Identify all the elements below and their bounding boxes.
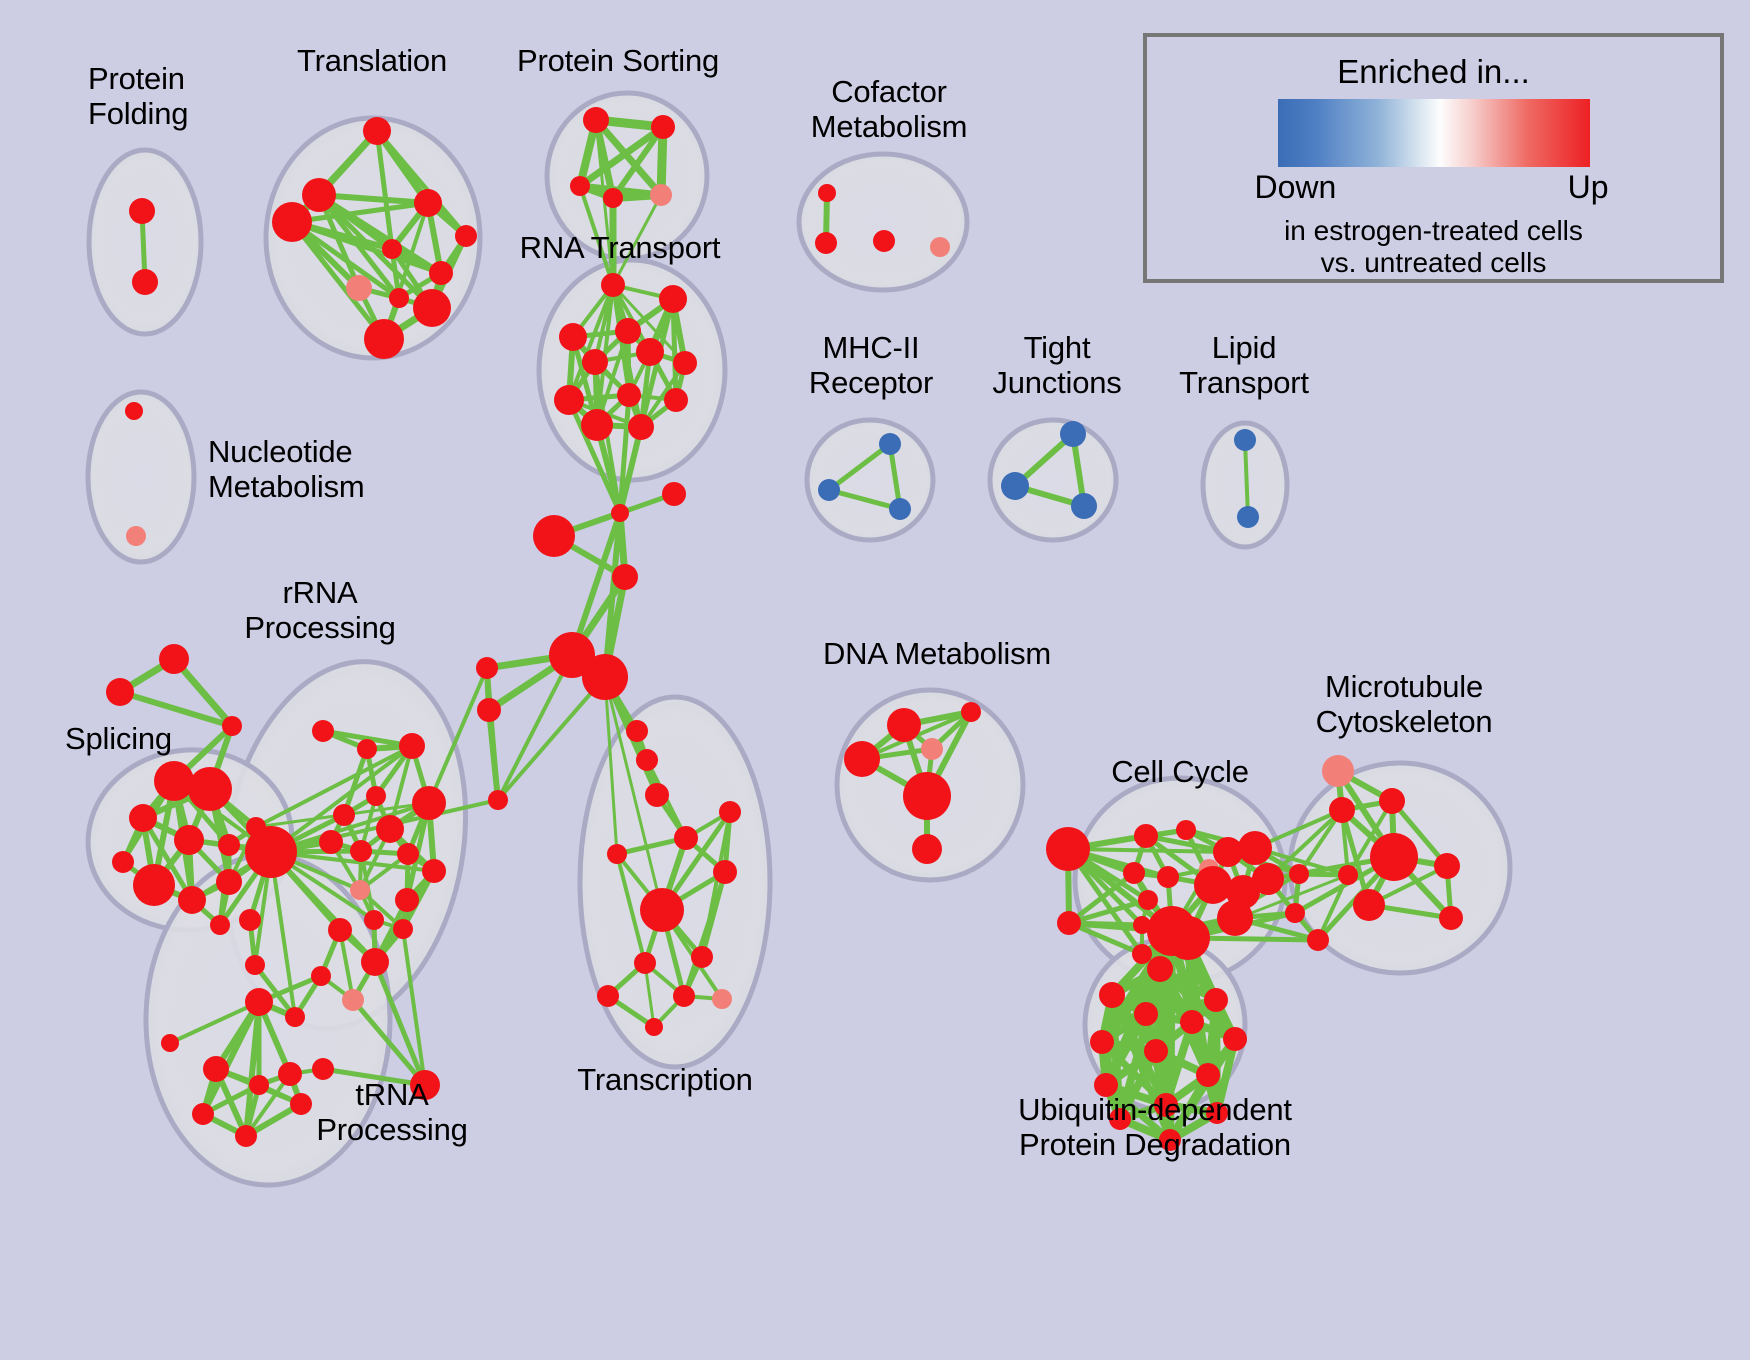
network-node-t3[interactable] [414,189,442,217]
network-node-t6[interactable] [382,239,402,259]
network-node-nm2[interactable] [126,526,146,546]
legend-panel: Enriched in... Down Up in estrogen-treat… [1143,33,1724,283]
network-node-dm2[interactable] [961,702,981,722]
network-node-mt3[interactable] [1329,797,1355,823]
network-node-rr4[interactable] [366,786,386,806]
legend-down-label: Down [1255,169,1337,206]
network-node-tp1[interactable] [245,988,273,1016]
network-node-cc8[interactable] [1157,866,1179,888]
network-node-t4[interactable] [272,202,312,242]
network-node-rt3[interactable] [615,318,641,344]
network-node-rr25[interactable] [312,1058,334,1080]
network-node-rr18[interactable] [361,948,389,976]
cluster-label-tight-junctions: Tight Junctions [992,331,1121,400]
network-node-sp1[interactable] [154,761,194,801]
network-node-sp0[interactable] [159,644,189,674]
network-node-ub4[interactable] [1134,1002,1158,1026]
network-node-t8[interactable] [346,275,372,301]
network-node-cc11[interactable] [1138,890,1158,910]
network-node-sp7[interactable] [133,864,175,906]
network-node-cm2[interactable] [815,232,837,254]
cluster-label-transcription: Transcription [577,1063,752,1098]
network-node-sp10[interactable] [210,915,230,935]
network-node-rr23[interactable] [285,1007,305,1027]
network-node-rr20[interactable] [342,989,364,1011]
network-node-rr15[interactable] [364,910,384,930]
network-node-rr21[interactable] [239,909,261,931]
network-node-mt1[interactable] [1322,755,1354,787]
legend-title: Enriched in... [1147,53,1720,91]
network-node-cc18[interactable] [1132,944,1152,964]
network-node-c1[interactable] [611,504,629,522]
network-node-sp11[interactable] [112,851,134,873]
network-node-cm4[interactable] [930,237,950,257]
network-node-rt5[interactable] [582,349,608,375]
network-node-sp2[interactable] [188,767,232,811]
cluster-label-rna-transport: RNA Transport [520,231,721,266]
legend-color-bar [1278,99,1590,167]
network-node-cc3[interactable] [1134,824,1158,848]
network-node-cm3[interactable] [873,230,895,252]
network-node-c6[interactable] [582,654,628,700]
network-node-tr1[interactable] [674,826,698,850]
network-node-c7[interactable] [476,657,498,679]
network-node-tp5[interactable] [192,1103,214,1125]
network-node-t9[interactable] [389,288,409,308]
network-node-sp4[interactable] [174,825,204,855]
network-node-tr4[interactable] [607,844,627,864]
network-node-ub10[interactable] [1196,1063,1220,1087]
cluster-label-nucleotide-metabolism: Nucleotide Metabolism [208,435,365,504]
network-node-rr13[interactable] [350,880,370,900]
network-node-rr2[interactable] [357,739,377,759]
network-node-pf1[interactable] [129,198,155,224]
network-node-rt10[interactable] [664,388,688,412]
cluster-label-ubiquitin-protein-degradation: Ubiquitin-dependent Protein Degradation [1018,1093,1292,1162]
network-node-c3[interactable] [533,515,575,557]
cluster-label-lipid-transport: Lipid Transport [1179,331,1309,400]
network-node-tr5[interactable] [713,860,737,884]
network-node-cc7[interactable] [1123,862,1145,884]
network-node-cc19[interactable] [1289,864,1309,884]
network-node-t1[interactable] [363,117,391,145]
network-node-c12[interactable] [645,783,669,807]
network-node-dm4[interactable] [921,738,943,760]
cluster-hull-rna-transport [539,260,725,480]
network-node-rt9[interactable] [617,383,641,407]
network-node-cm1[interactable] [818,184,836,202]
network-node-cc1[interactable] [1046,827,1090,871]
network-node-rt8[interactable] [554,385,584,415]
network-node-tr3[interactable] [640,888,684,932]
network-node-mt7[interactable] [1439,906,1463,930]
network-node-sp9[interactable] [216,869,242,895]
enrichment-map-canvas: Protein FoldingTranslationProtein Sortin… [0,0,1750,1360]
cluster-hull-transcription [580,697,770,1067]
network-node-cc6[interactable] [1238,831,1272,865]
network-node-mt6[interactable] [1434,853,1460,879]
network-node-dm6[interactable] [912,834,942,864]
network-node-mh1[interactable] [879,433,901,455]
network-node-ps1[interactable] [583,107,609,133]
network-node-sp3[interactable] [129,804,157,832]
network-node-cc17[interactable] [1166,916,1210,960]
network-node-tp2[interactable] [161,1034,179,1052]
network-node-tr11[interactable] [645,1018,663,1036]
network-node-rt6[interactable] [636,338,664,366]
legend-endpoint-labels: Down Up [1249,169,1619,213]
network-node-rt1[interactable] [601,273,625,297]
network-node-rr17[interactable] [328,918,352,942]
legend-up-label: Up [1568,169,1609,206]
network-node-rr3[interactable] [399,733,425,759]
network-node-tr2[interactable] [719,801,741,823]
network-node-mh2[interactable] [818,479,840,501]
network-node-rr11[interactable] [422,859,446,883]
cluster-label-trna-processing: tRNA Processing [316,1078,467,1147]
network-node-tp6[interactable] [235,1125,257,1147]
network-node-rr6[interactable] [412,786,446,820]
cluster-label-rrna-processing: rRNA Processing [244,576,395,645]
network-node-rr8[interactable] [319,830,343,854]
network-node-rt7[interactable] [673,351,697,375]
network-node-t5[interactable] [455,225,477,247]
network-node-ub1[interactable] [1147,956,1173,982]
network-node-ps5[interactable] [650,184,672,206]
network-node-t10[interactable] [413,289,451,327]
network-node-sp5[interactable] [218,834,240,856]
network-node-t2[interactable] [302,178,336,212]
network-node-rr9[interactable] [350,840,372,862]
network-node-tr8[interactable] [597,985,619,1007]
network-node-rr12[interactable] [245,826,297,878]
network-node-cc21[interactable] [1307,929,1329,951]
network-node-rr16[interactable] [393,919,413,939]
network-node-sp8[interactable] [178,886,206,914]
network-node-sp0b[interactable] [106,678,134,706]
network-node-cc15[interactable] [1217,900,1253,936]
network-node-lt1[interactable] [1234,429,1256,451]
cluster-label-mhc-ii-receptor: MHC-II Receptor [809,331,933,400]
network-node-tr6[interactable] [634,952,656,974]
network-node-rt2[interactable] [659,285,687,313]
network-node-rr7[interactable] [376,815,404,843]
network-node-c10[interactable] [636,749,658,771]
network-node-rt4[interactable] [559,323,587,351]
network-node-tp8[interactable] [249,1075,269,1095]
network-node-t7[interactable] [429,261,453,285]
cluster-label-translation: Translation [297,44,447,79]
network-node-c9[interactable] [626,720,648,742]
network-node-tj2[interactable] [1001,472,1029,500]
network-node-dm1[interactable] [887,708,921,742]
network-node-tp4[interactable] [278,1062,302,1086]
network-node-tj3[interactable] [1071,493,1097,519]
network-node-dm5[interactable] [903,772,951,820]
network-node-rr1[interactable] [312,720,334,742]
network-node-ub7[interactable] [1223,1027,1247,1051]
legend-subtitle: in estrogen-treated cells vs. untreated … [1147,215,1720,279]
cluster-label-protein-folding: Protein Folding [88,62,188,131]
cluster-label-dna-metabolism: DNA Metabolism [823,637,1051,672]
network-node-rr19[interactable] [311,966,331,986]
network-node-rr5[interactable] [333,804,355,826]
network-node-cc13[interactable] [1194,866,1232,904]
cluster-label-cofactor-metabolism: Cofactor Metabolism [811,75,968,144]
network-node-nm1[interactable] [125,402,143,420]
network-node-mt2[interactable] [1379,788,1405,814]
network-node-rr10[interactable] [397,843,419,865]
network-node-tp7[interactable] [290,1093,312,1115]
network-node-lt2[interactable] [1237,506,1259,528]
network-node-rr22[interactable] [245,955,265,975]
network-node-c2[interactable] [662,482,686,506]
network-node-rt12[interactable] [628,414,654,440]
network-node-ps4[interactable] [603,188,623,208]
network-node-rr14[interactable] [395,888,419,912]
network-node-tj1[interactable] [1060,421,1086,447]
network-node-ps3[interactable] [570,176,590,196]
cluster-label-cell-cycle: Cell Cycle [1111,755,1249,790]
network-node-cc22[interactable] [1338,865,1358,885]
network-node-tr9[interactable] [673,985,695,1007]
network-node-ub5[interactable] [1180,1010,1204,1034]
network-node-c4[interactable] [612,564,638,590]
network-node-rt11[interactable] [581,409,613,441]
cluster-label-microtubule-cytoskeleton: Microtubule Cytoskeleton [1316,670,1493,739]
network-node-ub3[interactable] [1204,988,1228,1012]
network-node-sp0c[interactable] [222,716,242,736]
network-node-ub8[interactable] [1144,1039,1168,1063]
network-node-t11[interactable] [364,319,404,359]
network-node-mh3[interactable] [889,498,911,520]
network-node-mt5[interactable] [1353,889,1385,921]
network-node-ub2[interactable] [1099,982,1125,1008]
network-node-ps2[interactable] [651,115,675,139]
network-node-tr10[interactable] [712,989,732,1009]
network-node-cc4[interactable] [1176,820,1196,840]
network-node-cc2[interactable] [1057,911,1081,935]
network-edge [673,299,676,400]
network-node-c8[interactable] [477,698,501,722]
network-node-mt4[interactable] [1370,833,1418,881]
network-node-cc20[interactable] [1285,903,1305,923]
network-node-ub6[interactable] [1090,1030,1114,1054]
network-node-c11[interactable] [488,790,508,810]
cluster-label-protein-sorting: Protein Sorting [517,44,719,79]
network-node-tp3[interactable] [203,1056,229,1082]
network-node-pf2[interactable] [132,269,158,295]
network-node-dm3[interactable] [844,741,880,777]
network-node-tr7[interactable] [691,946,713,968]
cluster-label-splicing: Splicing [65,722,172,757]
